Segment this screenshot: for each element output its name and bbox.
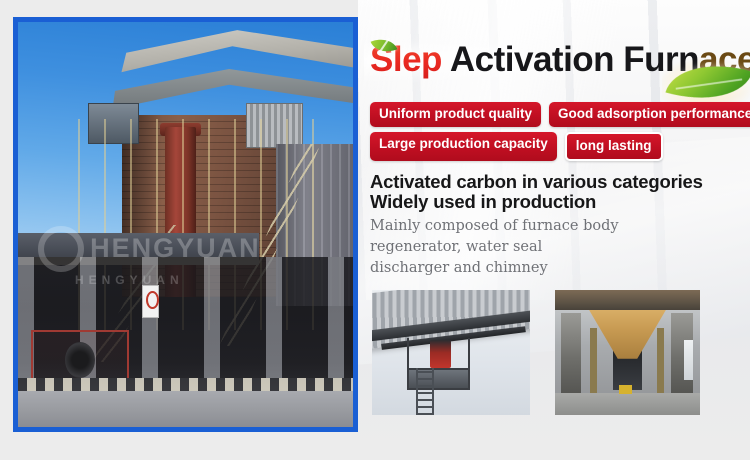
thumb2-support-left bbox=[590, 328, 597, 401]
description-line-1: Mainly composed of furnace body bbox=[370, 216, 620, 237]
description-line-3: discharger and chimney bbox=[370, 258, 620, 279]
main-product-image[interactable]: HENGYUAN HENGYUAN bbox=[13, 17, 358, 432]
title-main-text: Activation Furn bbox=[450, 40, 699, 79]
main-image-canvas: HENGYUAN HENGYUAN bbox=[18, 22, 353, 427]
feature-badges: Uniform product quality Good adsorption … bbox=[370, 102, 750, 166]
thumbnail-crane-image[interactable] bbox=[372, 290, 530, 415]
thumb2-ceiling-beam bbox=[555, 290, 700, 310]
promo-banner: HENGYUAN HENGYUAN Slep Activation Furnac… bbox=[0, 0, 750, 460]
watermark-text: HENGYUAN bbox=[90, 233, 261, 264]
thumb1-ladder bbox=[416, 368, 433, 416]
thumb2-column-left bbox=[561, 313, 581, 406]
thumb2-equipment bbox=[619, 385, 632, 394]
description-block: Mainly composed of furnace body regenera… bbox=[370, 216, 620, 279]
badge-uniform-product-quality[interactable]: Uniform product quality bbox=[370, 102, 541, 127]
headline-line-1: Activated carbon in various categories bbox=[370, 171, 703, 192]
badge-good-adsorption-performance[interactable]: Good adsorption performance bbox=[549, 102, 750, 127]
badge-row-2: Large production capacity long lasting bbox=[370, 132, 750, 161]
curb-stripe bbox=[18, 378, 353, 390]
headline-block: Activated carbon in various categories W… bbox=[370, 172, 750, 212]
product-title-block: Slep Activation Furnace bbox=[370, 34, 750, 90]
thumb2-floor bbox=[555, 393, 700, 416]
concrete-apron bbox=[18, 391, 353, 427]
brand-name: Slep bbox=[370, 40, 442, 79]
watermark-ring-icon bbox=[38, 226, 84, 272]
badge-row-1: Uniform product quality Good adsorption … bbox=[370, 102, 750, 127]
thumbnail-interior-image[interactable] bbox=[555, 290, 700, 415]
badge-long-lasting[interactable]: long lasting bbox=[565, 132, 663, 161]
thumb2-window bbox=[684, 340, 693, 380]
watermark-subtext: HENGYUAN bbox=[75, 273, 184, 287]
headline-line-2: Widely used in production bbox=[370, 192, 750, 212]
thumb2-support-right bbox=[657, 328, 664, 401]
title-main bbox=[442, 40, 450, 79]
description-line-2: regenerator, water seal bbox=[370, 237, 620, 258]
thumb1-hoist bbox=[430, 340, 451, 368]
badge-large-production-capacity[interactable]: Large production capacity bbox=[370, 132, 557, 161]
